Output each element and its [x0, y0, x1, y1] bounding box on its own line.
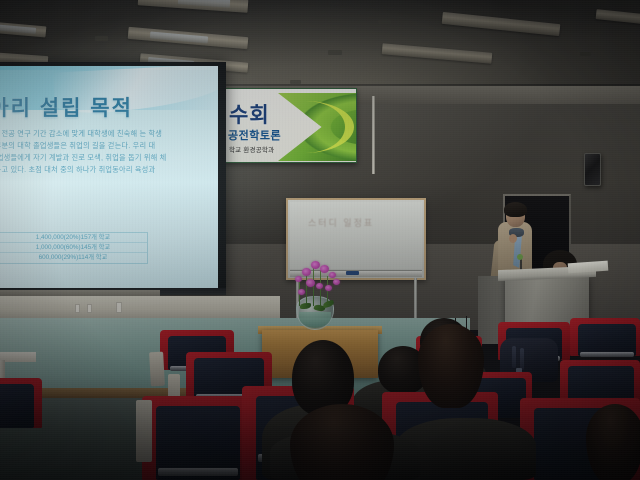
orchid-flower: [316, 283, 323, 289]
audience-member-head: [290, 404, 394, 480]
orchid-flower: [302, 268, 311, 276]
auditorium-seat-armrest: [136, 400, 152, 462]
slide-table-row: 1,000,000(60%)145개 학교: [0, 243, 147, 253]
slide-table-row: 600,000(29%)114개 학교: [0, 253, 147, 263]
slide-title: 동아리 설립 목적: [0, 92, 133, 122]
slide-body-line: 로 운영하고 있다. 초점 대처 중의 하나가 취업동아리 육성과: [0, 164, 218, 176]
auditorium-seat-armrest: [149, 352, 165, 387]
wall-outlet[interactable]: [116, 302, 122, 313]
orchid-flower: [320, 265, 329, 273]
banner-small-text: 학교 환경공학과: [229, 144, 274, 154]
orchid-flower: [325, 285, 332, 291]
whiteboard-marker: [346, 271, 359, 275]
orchid-flower: [298, 289, 305, 295]
projection-screen-surface: 동아리 설립 목적 대학에서 전공 연구 기간 감소에 맞게 대학생에 친숙해 …: [0, 66, 218, 288]
banner-title: 수회: [229, 99, 270, 129]
slide-table-row: 1,400,000(20%)157개 학교: [0, 233, 147, 243]
projection-screen: 동아리 설립 목적 대학에서 전공 연구 기간 감소에 맞게 대학생에 친숙해 …: [0, 62, 226, 294]
orchid-stem: [306, 272, 307, 304]
wall-mounted-speaker-icon: [584, 153, 601, 186]
banner-support-pole: [372, 96, 375, 174]
audience-member-head: [586, 404, 640, 480]
event-banner: 수회 공전학토론 학교 환경공학과: [222, 88, 357, 163]
orchid-flower: [295, 276, 302, 282]
banner-subtitle: 공전학토론: [228, 127, 281, 143]
slide-table: 1,400,000(20%)157개 학교 1,000,000(60%)145개…: [0, 232, 148, 264]
whiteboard-handwriting: 스터디 일정표: [308, 216, 374, 229]
whiteboard-surface: 스터디 일정표: [290, 202, 422, 269]
orchid-flower: [329, 272, 336, 278]
slide-body-line: 대학에서 전공 연구 기간 감소에 맞게 대학생에 친숙해 는 학생: [0, 128, 218, 140]
wall-outlet[interactable]: [75, 304, 80, 313]
slide-body-line: 고는 대부분의 대학 졸업생들은 취업의 길을 걷는다. 우리 대: [0, 140, 218, 152]
presenter-hair: [504, 202, 527, 217]
orchid-flower: [306, 279, 315, 287]
orchid-flower: [311, 261, 320, 269]
lecture-hall-scene: 수회 공전학토론 학교 환경공학과 동아리 설립 목적 대학에서 전공 연구 기…: [0, 0, 640, 480]
wall-outlet[interactable]: [87, 304, 92, 313]
orchid-flower: [333, 279, 340, 285]
side-table: [0, 352, 36, 362]
audience-member-head: [418, 324, 484, 408]
slide-body-line: 행 및 졸업생들에게 자기 계발과 진로 모색, 취업을 돕기 위해 체: [0, 152, 218, 164]
